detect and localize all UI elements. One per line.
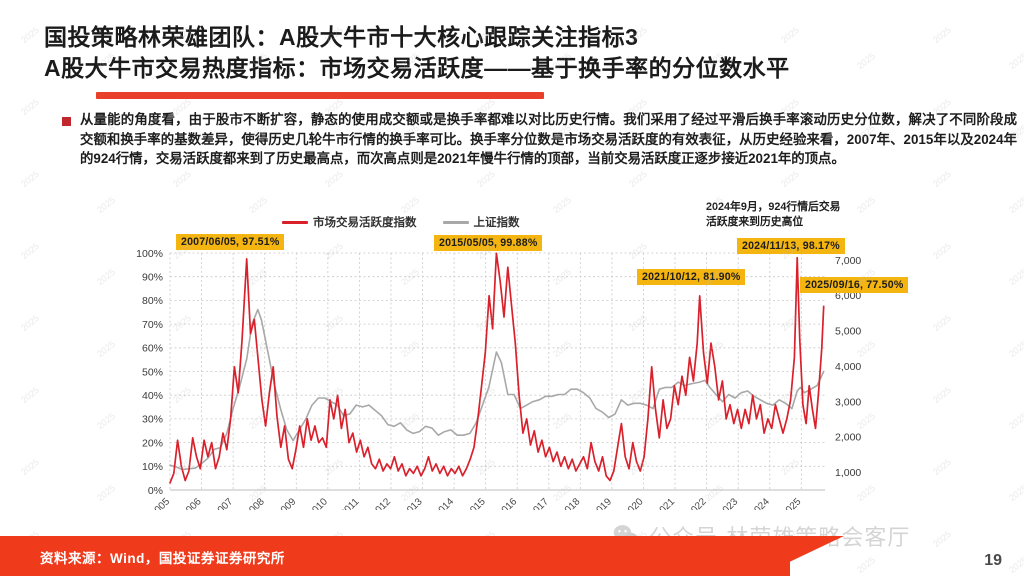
callout-2025: 2025/09/16, 77.50% (800, 277, 908, 293)
svg-text:30%: 30% (142, 414, 163, 426)
svg-text:2009: 2009 (275, 496, 299, 510)
svg-text:2021: 2021 (654, 496, 678, 510)
callout-2024: 2024/11/13, 98.17% (737, 238, 845, 254)
body-bullet: 从量能的角度看，由于股市不断扩容，静态的使用成交额或是换手率都难以对比历史行情。… (62, 110, 1017, 169)
svg-text:2017: 2017 (527, 496, 551, 510)
source-text: 资料来源：Wind，国投证券证券研究所 (40, 547, 285, 567)
footer: 资料来源：Wind，国投证券证券研究所 (0, 536, 1024, 576)
svg-text:2025: 2025 (780, 496, 804, 510)
title-line-1: 国投策略林荣雄团队：A股大牛市十大核心跟踪关注指标3 (44, 22, 1004, 53)
svg-text:2011: 2011 (339, 496, 362, 510)
svg-text:2023: 2023 (717, 496, 741, 510)
svg-text:50%: 50% (142, 366, 163, 378)
svg-text:90%: 90% (142, 272, 163, 284)
svg-text:2020: 2020 (622, 496, 646, 510)
svg-text:80%: 80% (142, 295, 163, 307)
svg-text:60%: 60% (142, 343, 163, 355)
title-underline-rule (96, 92, 544, 99)
svg-text:2022: 2022 (685, 496, 709, 510)
svg-text:0%: 0% (148, 485, 163, 497)
svg-text:2012: 2012 (370, 496, 394, 510)
svg-text:1,000: 1,000 (835, 467, 861, 479)
svg-text:2016: 2016 (496, 496, 520, 510)
svg-text:3,000: 3,000 (835, 396, 861, 408)
svg-text:2018: 2018 (559, 496, 583, 510)
svg-text:2019: 2019 (591, 496, 615, 510)
svg-text:2013: 2013 (401, 496, 425, 510)
svg-text:20%: 20% (142, 437, 163, 449)
svg-text:2024: 2024 (748, 496, 772, 510)
slide-root: 国投策略林荣雄团队：A股大牛市十大核心跟踪关注指标3 A股大牛市交易热度指标：市… (0, 0, 1024, 576)
svg-text:2006: 2006 (180, 496, 204, 510)
callout-2007: 2007/06/05, 97.51% (176, 234, 284, 250)
callout-2015: 2015/05/05, 99.88% (434, 235, 542, 251)
annotation-note-2024: 2024年9月，924行情后交易 活跃度来到历史高位 (706, 200, 840, 230)
svg-text:2007: 2007 (212, 496, 236, 510)
svg-text:7,000: 7,000 (835, 255, 861, 267)
title-line-2: A股大牛市交易热度指标：市场交易活跃度——基于换手率的分位数水平 (44, 53, 1004, 84)
svg-text:100%: 100% (136, 248, 163, 260)
svg-text:4,000: 4,000 (835, 361, 861, 373)
svg-text:2010: 2010 (306, 496, 330, 510)
svg-text:2,000: 2,000 (835, 432, 861, 444)
body-paragraph: 从量能的角度看，由于股市不断扩容，静态的使用成交额或是换手率都难以对比历史行情。… (80, 110, 1017, 169)
svg-text:2005: 2005 (149, 496, 173, 510)
svg-text:40%: 40% (142, 390, 163, 402)
page-number: 19 (984, 552, 1002, 570)
annotation-note-2024-line1: 2024年9月，924行情后交易 (706, 200, 840, 215)
svg-text:2014: 2014 (433, 496, 457, 510)
svg-text:70%: 70% (142, 319, 163, 331)
callout-2021: 2021/10/12, 81.90% (637, 269, 745, 285)
svg-text:5,000: 5,000 (835, 326, 861, 338)
page-title: 国投策略林荣雄团队：A股大牛市十大核心跟踪关注指标3 A股大牛市交易热度指标：市… (44, 22, 1004, 84)
bullet-square-icon (62, 117, 71, 126)
svg-text:2008: 2008 (243, 496, 267, 510)
annotation-note-2024-line2: 活跃度来到历史高位 (706, 215, 840, 230)
svg-text:2015: 2015 (464, 496, 488, 510)
svg-text:10%: 10% (142, 461, 163, 473)
